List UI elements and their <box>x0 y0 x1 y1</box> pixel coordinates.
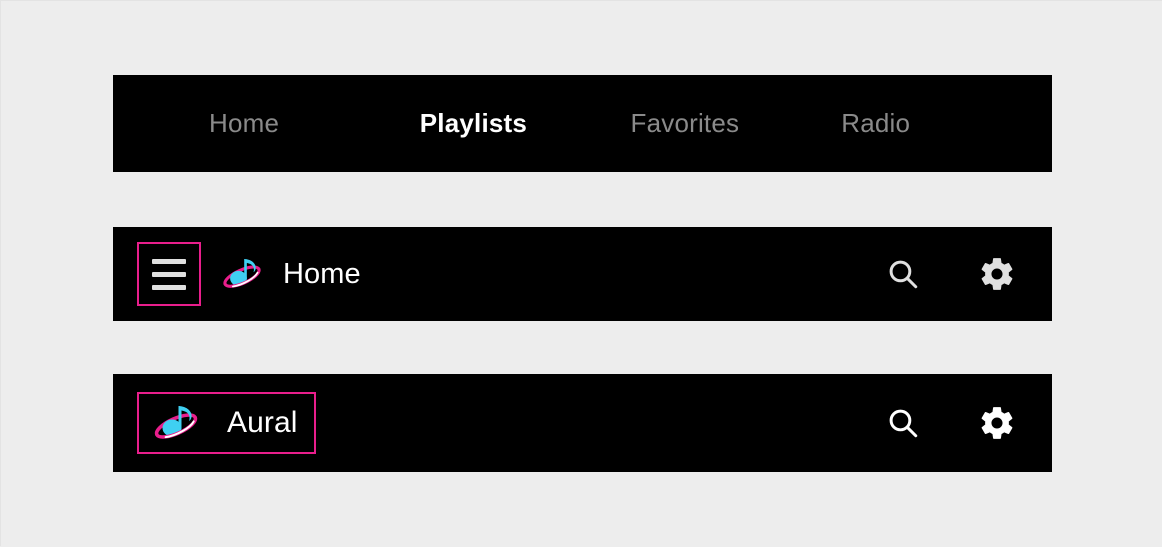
hamburger-menu-icon-line-2 <box>152 272 186 277</box>
hamburger-menu-button[interactable] <box>137 242 201 306</box>
brand-name-label: Aural <box>227 406 298 440</box>
top-navigation-bar: Home Playlists Favorites Radio <box>113 75 1052 172</box>
search-icon <box>886 257 920 291</box>
nav-item-radio[interactable]: Radio <box>841 108 1052 139</box>
app-bar-title: Home <box>283 258 361 291</box>
app-bar-action-group <box>881 252 1052 296</box>
settings-button[interactable] <box>975 252 1019 296</box>
screen-root: Home Playlists Favorites Radio <box>1 1 1162 547</box>
nav-item-favorites[interactable]: Favorites <box>631 108 842 139</box>
aural-planet-note-logo <box>220 252 264 296</box>
app-bar: Home <box>113 227 1052 321</box>
nav-item-list: Home Playlists Favorites Radio <box>113 108 1052 139</box>
brand-button[interactable]: Aural <box>137 392 316 454</box>
nav-item-home[interactable]: Home <box>209 108 420 139</box>
brand-bar: Aural <box>113 374 1052 472</box>
settings-button[interactable] <box>975 401 1019 445</box>
brand-bar-left-group: Aural <box>113 392 881 454</box>
gear-icon <box>978 255 1016 293</box>
gear-icon <box>978 404 1016 442</box>
search-button[interactable] <box>881 401 925 445</box>
search-button[interactable] <box>881 252 925 296</box>
hamburger-menu-icon-line-3 <box>152 285 186 290</box>
search-icon <box>886 406 920 440</box>
brand-bar-action-group <box>881 401 1052 445</box>
aural-planet-note-logo <box>151 398 201 448</box>
nav-item-playlists[interactable]: Playlists <box>420 108 631 139</box>
app-bar-left-group: Home <box>113 242 881 306</box>
hamburger-menu-icon-line-1 <box>152 259 186 264</box>
